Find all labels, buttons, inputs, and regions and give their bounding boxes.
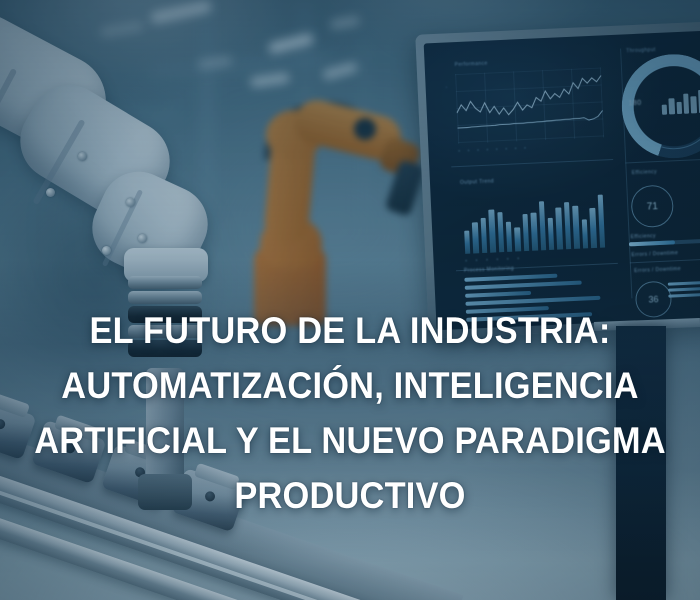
arm-bolt — [102, 246, 111, 255]
headline-title: EL FUTURO DE LA INDUSTRIA: AUTOMATIZACIÓ… — [0, 303, 700, 523]
bar-chart — [463, 188, 606, 254]
headline-line-4: PRODUCTIVO — [0, 468, 700, 523]
radial-gauge-value: 180 — [628, 100, 641, 108]
analytics-monitor: Performance ▫ ▪▪▪▪▪▪▪▪ Output Trend — [415, 21, 700, 338]
line-chart — [455, 67, 604, 144]
headline-line-2: AUTOMATIZACIÓN, INTELIGENCIA — [0, 358, 700, 413]
secondary-bar-list — [668, 280, 700, 301]
orange-robot-arm — [232, 96, 422, 326]
dashboard-screen: Performance ▫ ▪▪▪▪▪▪▪▪ Output Trend — [424, 31, 700, 331]
arm-bolt — [46, 188, 55, 197]
headline-line-3: ARTIFICIAL Y EL NUEVO PARADIGMA — [0, 413, 700, 468]
mini-bar-chart — [661, 89, 700, 115]
arm-bolt — [138, 234, 147, 243]
headline-line-1: EL FUTURO DE LA INDUSTRIA: — [0, 303, 700, 358]
progress-bar — [465, 291, 531, 298]
progress-bar — [465, 281, 582, 290]
tool-ring — [128, 276, 202, 289]
panel-title-kpi-gauge: Efficiency — [632, 169, 658, 176]
line-chart-series — [455, 67, 604, 144]
kpi-progress-label: Efficiency — [631, 233, 657, 240]
kpi-gauge-primary-value: 71 — [646, 201, 658, 212]
arm-bolt — [78, 152, 87, 161]
arm-bolt — [126, 198, 135, 207]
banner-image: Performance ▫ ▪▪▪▪▪▪▪▪ Output Trend — [0, 0, 700, 600]
robot-joint-cap — [354, 118, 376, 140]
